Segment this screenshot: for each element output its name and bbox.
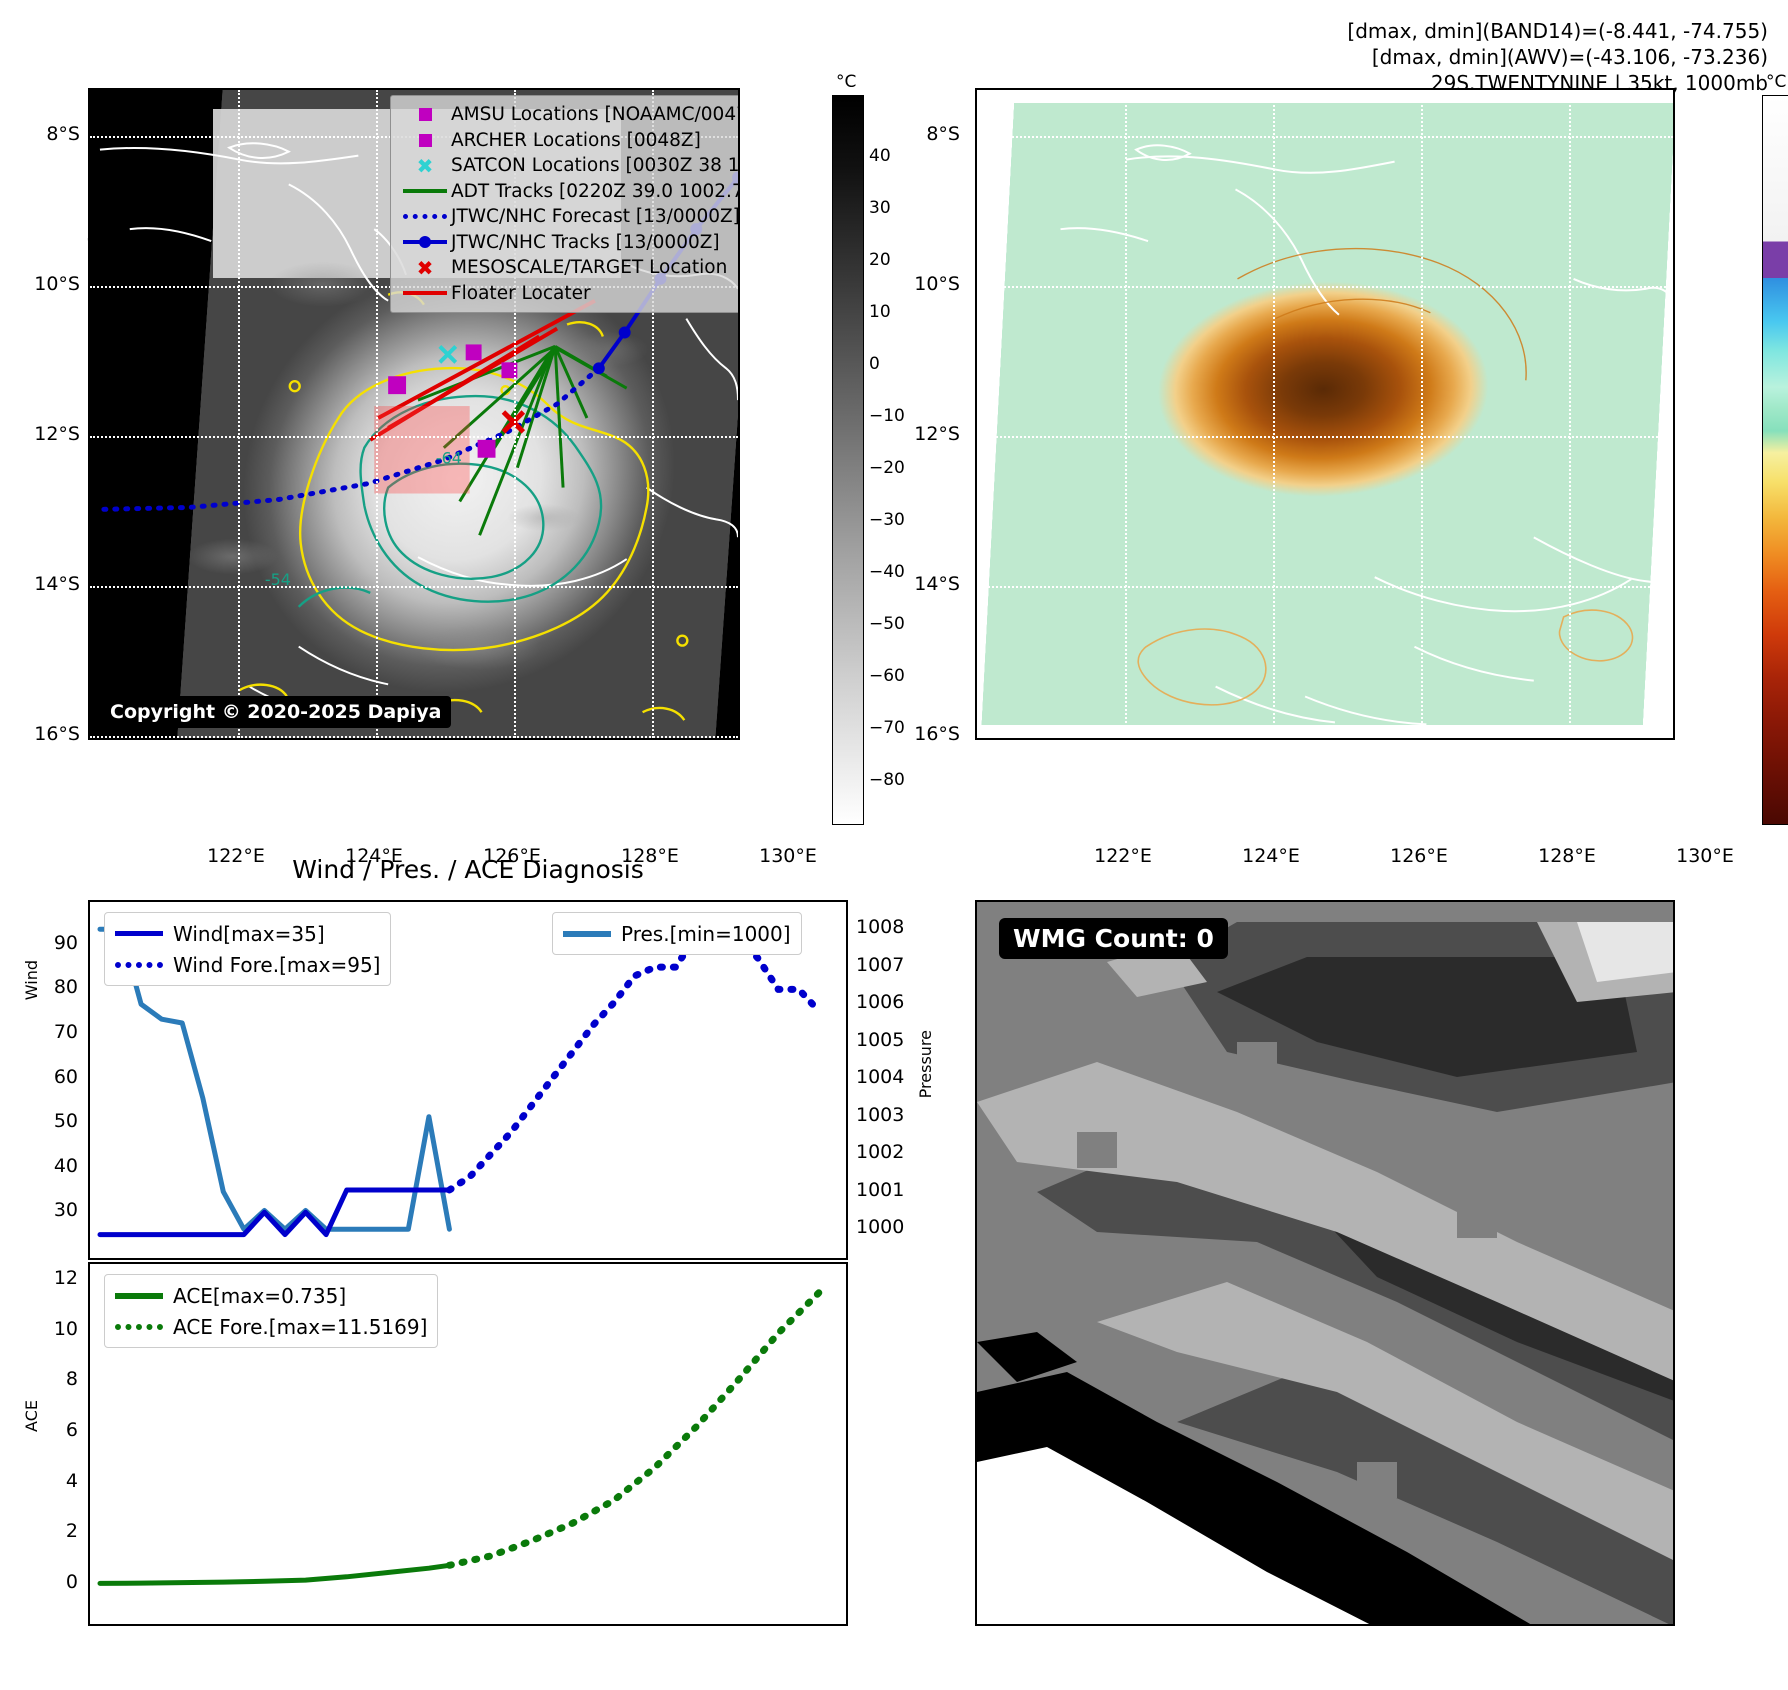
legend-label: ADT Tracks [0220Z 39.0 1002.7] [451,181,740,202]
axis-tick-label: 1003 [856,1104,926,1126]
legend-item-jtwc-tracks: JTWC/NHC Tracks [13/0000Z] [399,230,740,256]
axis-tick-label: 1005 [856,1029,926,1051]
axis-tick-label: 1008 [856,916,926,938]
legend-item-wind-forecast: Wind Fore.[max=95] [115,949,380,980]
axis-tick-label: 1002 [856,1141,926,1163]
line-marker-icon [115,931,173,936]
legend-label: SATCON Locations [0030Z 38 1003] [451,155,740,176]
legend-item-jtwc-forecast: JTWC/NHC Forecast [13/0000Z] [399,204,740,230]
diagnosis-title: Wind / Pres. / ACE Diagnosis [292,855,644,884]
legend-label: Wind[max=35] [173,922,325,946]
axis-tick-label: 30 [8,1199,78,1221]
axis-tick-label: 0 [8,1571,78,1593]
dotted-line-icon [115,1324,173,1330]
legend-item-floater: Floater Locater [399,281,740,307]
axis-tick-label: 50 [8,1110,78,1132]
legend-label: ACE Fore.[max=11.5169] [173,1315,427,1339]
legend-item-satcon: ✖ SATCON Locations [0030Z 38 1003] [399,153,740,179]
legend-label: Pres.[min=1000] [621,922,791,946]
line-with-dot-icon [399,240,451,244]
legend-item-ace: ACE[max=0.735] [115,1280,427,1311]
axis-tick-label: 12 [8,1267,78,1289]
legend-item-ace-forecast: ACE Fore.[max=11.5169] [115,1311,427,1342]
ir-colorbar: 40 30 20 10 0 −10 −20 −30 −40 −50 −60 −7… [832,95,864,825]
ace-chart[interactable]: ACE[max=0.735] ACE Fore.[max=11.5169] [88,1262,848,1626]
dmax-dmin-band14: [dmax, dmin](BAND14)=(-8.441, -74.755) [1347,18,1768,44]
legend-label: MESOSCALE/TARGET Location [451,257,727,278]
legend-item-mesoscale: ✖ MESOSCALE/TARGET Location [399,255,740,281]
wmg-map[interactable]: WMG Count: 0 [975,900,1675,1626]
legend-item-pressure: Pres.[min=1000] [563,918,791,949]
line-marker-icon [399,189,451,193]
legend-item-amsu: AMSU Locations [NOAAMC/0047Z 46 998] [399,102,740,128]
copyright-badge: Copyright © 2020-2025 Dapiya [100,696,451,728]
awv-satellite-map[interactable] [975,88,1675,740]
axis-tick-label: 70 [8,1021,78,1043]
line-marker-icon [399,291,451,295]
wind-pressure-chart[interactable]: Wind[max=35] Wind Fore.[max=95] Pres.[mi… [88,900,848,1260]
axis-tick-label: 60 [8,1066,78,1088]
dmax-dmin-awv: [dmax, dmin](AWV)=(-43.106, -73.236) [1347,44,1768,70]
line-marker-icon [115,1293,173,1299]
pressure-legend: Pres.[min=1000] [552,912,802,955]
axis-tick-label: 10 [8,1318,78,1340]
legend-label: Floater Locater [451,283,591,304]
legend-item-archer: ARCHER Locations [0048Z] [399,128,740,154]
x-marker-icon: ✖ [399,156,451,176]
square-marker-icon [399,134,451,147]
legend-item-adt: ADT Tracks [0220Z 39.0 1002.7] [399,179,740,205]
square-marker-icon [399,108,451,121]
axis-tick-label: 1006 [856,991,926,1013]
axis-tick-label: 80 [8,976,78,998]
wmg-raster [977,902,1675,1626]
dotted-line-icon [399,214,451,219]
line-marker-icon [563,931,621,937]
ir-colorbar-unit: °C [836,72,856,92]
axis-tick-label: 1001 [856,1179,926,1201]
legend-label: JTWC/NHC Forecast [13/0000Z] [451,206,740,227]
ace-legend: ACE[max=0.735] ACE Fore.[max=11.5169] [104,1274,438,1348]
axis-tick-label: 6 [8,1419,78,1441]
legend-label: JTWC/NHC Tracks [13/0000Z] [451,232,720,253]
axis-tick-label: 2 [8,1520,78,1542]
axis-tick-label: 40 [8,1155,78,1177]
axis-tick-label: 1007 [856,954,926,976]
legend-label: ACE[max=0.735] [173,1284,346,1308]
ir-map-legend: AMSU Locations [NOAAMC/0047Z 46 998] ARC… [390,95,740,313]
axis-tick-label: 4 [8,1470,78,1492]
x-marker-icon: ✖ [399,258,451,278]
legend-label: Wind Fore.[max=95] [173,953,380,977]
wmg-count-badge: WMG Count: 0 [999,918,1228,959]
header-stats: [dmax, dmin](BAND14)=(-8.441, -74.755) [… [1347,18,1768,96]
ir-satellite-map[interactable]: -64 -54 AMSU Locations [NOAAMC/0047Z 46 … [88,88,740,740]
legend-label: AMSU Locations [NOAAMC/0047Z 46 998] [451,104,740,125]
axis-tick-label: 1004 [856,1066,926,1088]
legend-item-wind: Wind[max=35] [115,918,380,949]
awv-colorbar: 40 30 20 10 0 −10 −20 −30 −40 −50 −60 −7… [1762,95,1788,825]
axis-tick-label: 8 [8,1368,78,1390]
dotted-line-icon [115,962,173,968]
axis-tick-label: 1000 [856,1216,926,1238]
awv-colorbar-unit: °C [1766,72,1786,92]
axis-tick-label: 90 [8,932,78,954]
wind-legend: Wind[max=35] Wind Fore.[max=95] [104,912,391,986]
legend-label: ARCHER Locations [0048Z] [451,130,701,151]
